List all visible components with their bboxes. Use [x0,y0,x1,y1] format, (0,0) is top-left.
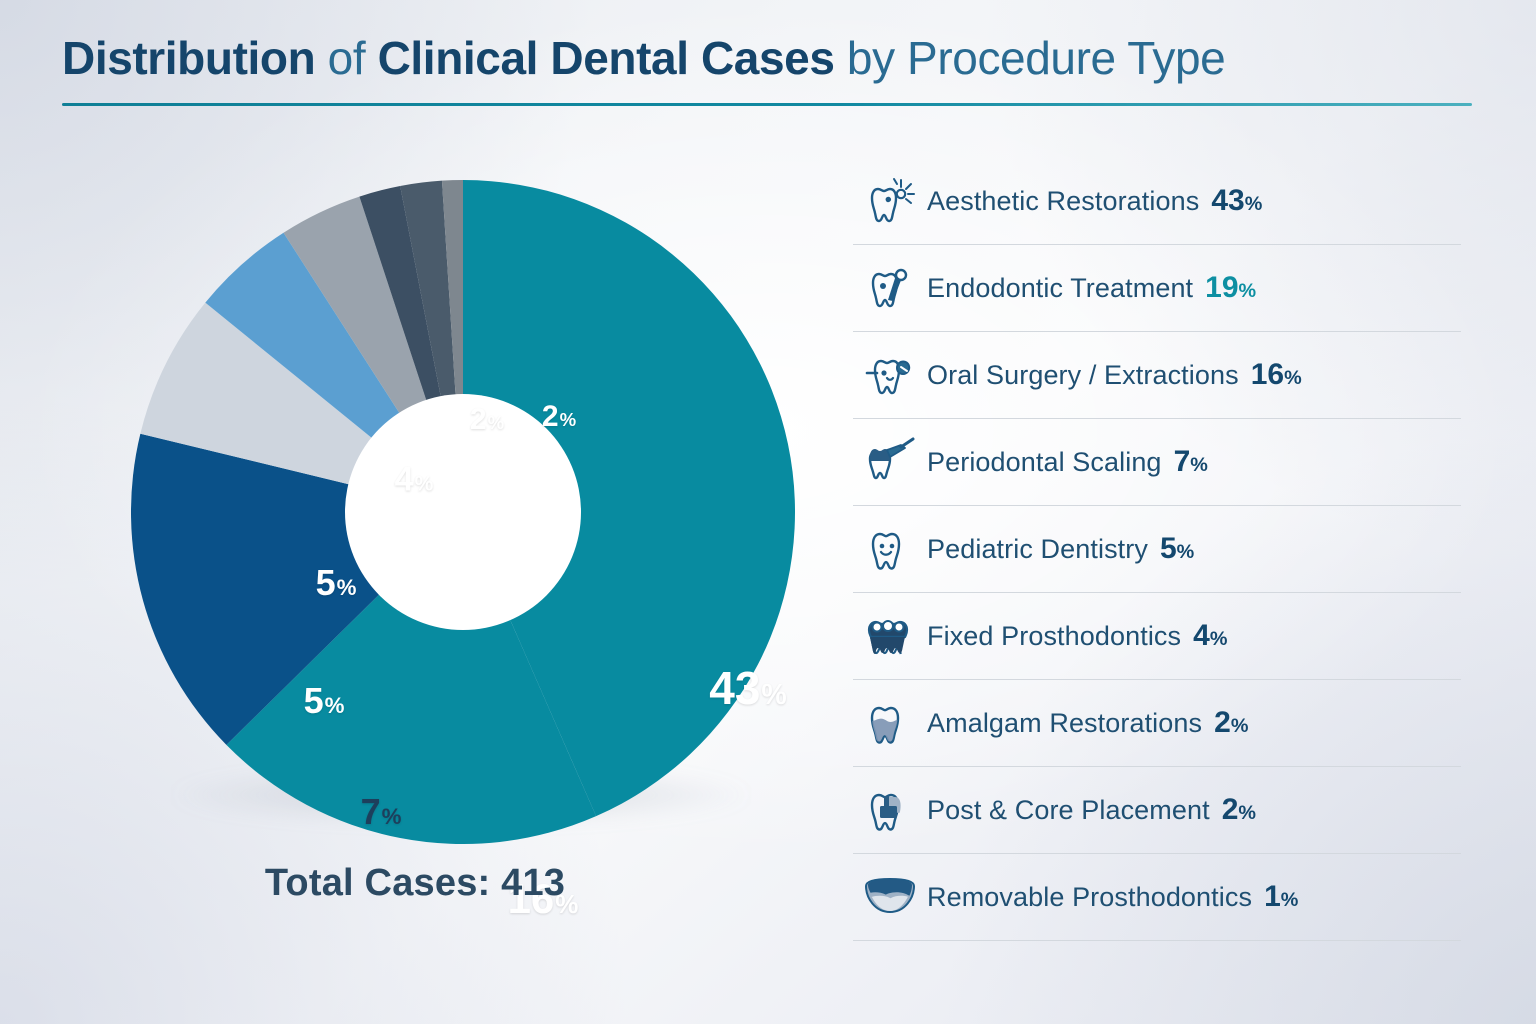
total-cases-label: Total Cases: 413 [0,862,830,905]
title-part-2: of [315,32,377,84]
legend-label: Amalgam Restorations [927,708,1202,739]
tooth-filling-icon [853,692,927,754]
legend-value-percent-sign: % [1281,889,1299,911]
legend-value: 2% [1214,706,1248,740]
legend-value-percent-sign: % [1238,802,1256,824]
legend-label: Post & Core Placement [927,795,1210,826]
legend-value: 5% [1160,532,1194,566]
legend-value-percent-sign: % [1284,367,1302,389]
donut-chart: 43%16%7%5%5%4%2%2% [131,180,795,844]
legend-label: Aesthetic Restorations [927,186,1199,217]
title-underline-rule [62,103,1472,106]
legend-row[interactable]: Periodontal Scaling7% [853,419,1461,506]
denture-icon [853,866,927,928]
legend-value-number: 2 [1222,793,1239,826]
legend-value-number: 16 [1251,358,1284,391]
title-part-4: by Procedure Type [835,32,1226,84]
legend-value: 1% [1264,880,1298,914]
legend-value-number: 4 [1193,619,1210,652]
title-part-1: Distribution [62,32,315,84]
legend-value-number: 19 [1205,271,1238,304]
tooth-sparkle-icon [853,170,927,232]
legend-row[interactable]: Aesthetic Restorations43% [853,158,1461,245]
chart-area: 43%16%7%5%5%4%2%2% Total Cases: 413 [0,150,830,950]
legend: Aesthetic Restorations43% Endodontic Tre… [853,158,1461,941]
legend-label: Periodontal Scaling [927,447,1162,478]
legend-label: Oral Surgery / Extractions [927,360,1239,391]
legend-value: 43% [1211,184,1262,218]
legend-row[interactable]: Pediatric Dentistry5% [853,506,1461,593]
legend-value-percent-sign: % [1231,715,1249,737]
legend-row[interactable]: Endodontic Treatment19% [853,245,1461,332]
tooth-scaler-icon [853,431,927,493]
tooth-post-core-icon [853,779,927,841]
legend-value-number: 7 [1174,445,1191,478]
legend-value-number: 2 [1214,706,1231,739]
legend-label: Fixed Prosthodontics [927,621,1181,652]
tooth-extraction-icon [853,344,927,406]
legend-row[interactable]: Oral Surgery / Extractions16% [853,332,1461,419]
legend-label: Removable Prosthodontics [927,882,1252,913]
page-title: Distribution of Clinical Dental Cases by… [62,33,1474,85]
donut-center-hole [345,394,581,630]
dental-bridge-icon [853,605,927,667]
title-block: Distribution of Clinical Dental Cases by… [62,33,1474,106]
legend-label: Pediatric Dentistry [927,534,1148,565]
legend-value-number: 5 [1160,532,1177,565]
legend-row[interactable]: Removable Prosthodontics1% [853,854,1461,941]
tooth-smiling-icon [853,518,927,580]
legend-value-percent-sign: % [1239,280,1257,302]
legend-value: 2% [1222,793,1256,827]
legend-value: 7% [1174,445,1208,479]
legend-label: Endodontic Treatment [927,273,1193,304]
legend-value: 19% [1205,271,1256,305]
legend-value-number: 1 [1264,880,1281,913]
legend-value: 16% [1251,358,1302,392]
legend-row[interactable]: Fixed Prosthodontics4% [853,593,1461,680]
legend-value-number: 43 [1211,184,1244,217]
legend-value-percent-sign: % [1245,193,1263,215]
legend-value-percent-sign: % [1177,541,1195,563]
legend-value: 4% [1193,619,1227,653]
donut-svg [131,180,795,844]
legend-row[interactable]: Amalgam Restorations2% [853,680,1461,767]
title-part-3: Clinical Dental Cases [378,32,835,84]
legend-value-percent-sign: % [1210,628,1228,650]
legend-value-percent-sign: % [1190,454,1208,476]
legend-row[interactable]: Post & Core Placement2% [853,767,1461,854]
tooth-root-canal-icon [853,257,927,319]
